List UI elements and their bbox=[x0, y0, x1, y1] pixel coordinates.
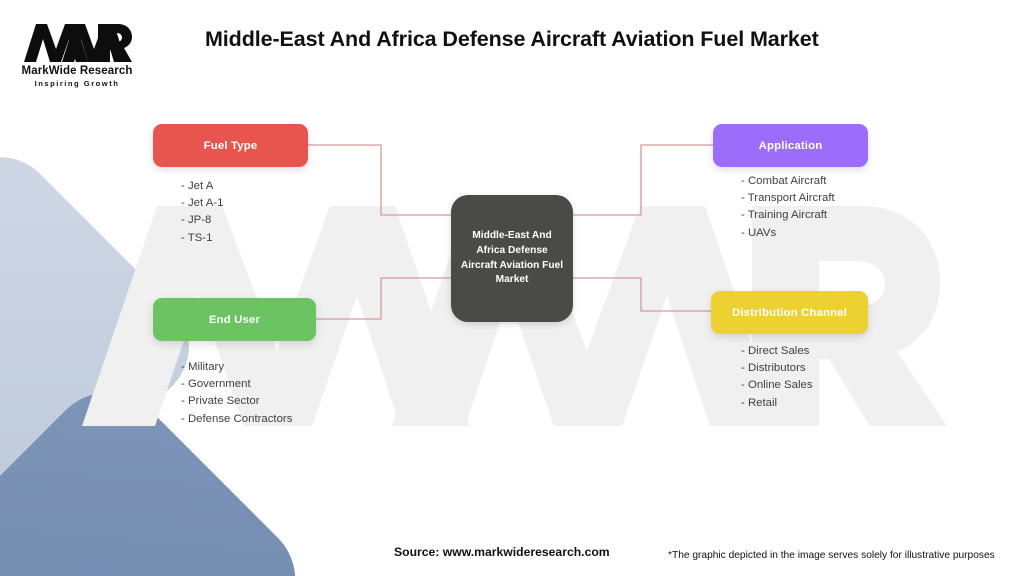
list-item: - Military bbox=[181, 359, 292, 376]
branch-items-fuel-type: - Jet A - Jet A-1 - JP-8 - TS-1 bbox=[181, 178, 223, 247]
branch-pill-end-user[interactable]: End User bbox=[153, 298, 316, 341]
branch-pill-distribution-channel[interactable]: Distribution Channel bbox=[711, 291, 868, 334]
list-item: - TS-1 bbox=[181, 230, 223, 247]
list-item: - Direct Sales bbox=[741, 343, 813, 360]
list-item: - Training Aircraft bbox=[741, 207, 835, 224]
branch-items-end-user: - Military - Government - Private Sector… bbox=[181, 359, 292, 428]
list-item: - Defense Contractors bbox=[181, 411, 292, 428]
list-item: - Online Sales bbox=[741, 377, 813, 394]
branch-label-application: Application bbox=[759, 140, 823, 152]
list-item: - Distributors bbox=[741, 360, 813, 377]
list-item: - Retail bbox=[741, 395, 813, 412]
page-title: Middle-East And Africa Defense Aircraft … bbox=[205, 27, 819, 52]
list-item: - JP-8 bbox=[181, 212, 223, 229]
branch-label-fuel-type: Fuel Type bbox=[204, 140, 258, 152]
brand-logo: MarkWide Research Inspiring Growth bbox=[14, 22, 140, 88]
list-item: - Transport Aircraft bbox=[741, 190, 835, 207]
branch-items-distribution-channel: - Direct Sales - Distributors - Online S… bbox=[741, 343, 813, 412]
list-item: - Private Sector bbox=[181, 393, 292, 410]
disclaimer-text: *The graphic depicted in the image serve… bbox=[668, 550, 995, 561]
branch-pill-fuel-type[interactable]: Fuel Type bbox=[153, 124, 308, 167]
connector-application bbox=[573, 145, 713, 215]
mwr-monogram-icon bbox=[22, 22, 132, 64]
branch-label-distribution-channel: Distribution Channel bbox=[732, 307, 847, 319]
connector-distribution-channel bbox=[573, 278, 711, 311]
connector-end-user bbox=[316, 278, 451, 319]
branch-label-end-user: End User bbox=[209, 314, 260, 326]
list-item: - Combat Aircraft bbox=[741, 173, 835, 190]
branch-items-application: - Combat Aircraft - Transport Aircraft -… bbox=[741, 173, 835, 242]
source-text: Source: www.markwideresearch.com bbox=[394, 545, 610, 559]
infographic-canvas: MarkWide Research Inspiring Growth Middl… bbox=[0, 0, 1024, 576]
list-item: - Jet A-1 bbox=[181, 195, 223, 212]
list-item: - UAVs bbox=[741, 225, 835, 242]
list-item: - Jet A bbox=[181, 178, 223, 195]
list-item: - Government bbox=[181, 376, 292, 393]
brand-name: MarkWide Research bbox=[14, 65, 140, 77]
brand-tagline: Inspiring Growth bbox=[14, 79, 140, 88]
connector-fuel-type bbox=[308, 145, 451, 215]
center-node-label: Middle-East And Africa Defense Aircraft … bbox=[451, 229, 573, 288]
branch-pill-application[interactable]: Application bbox=[713, 124, 868, 167]
center-node: Middle-East And Africa Defense Aircraft … bbox=[451, 195, 573, 322]
